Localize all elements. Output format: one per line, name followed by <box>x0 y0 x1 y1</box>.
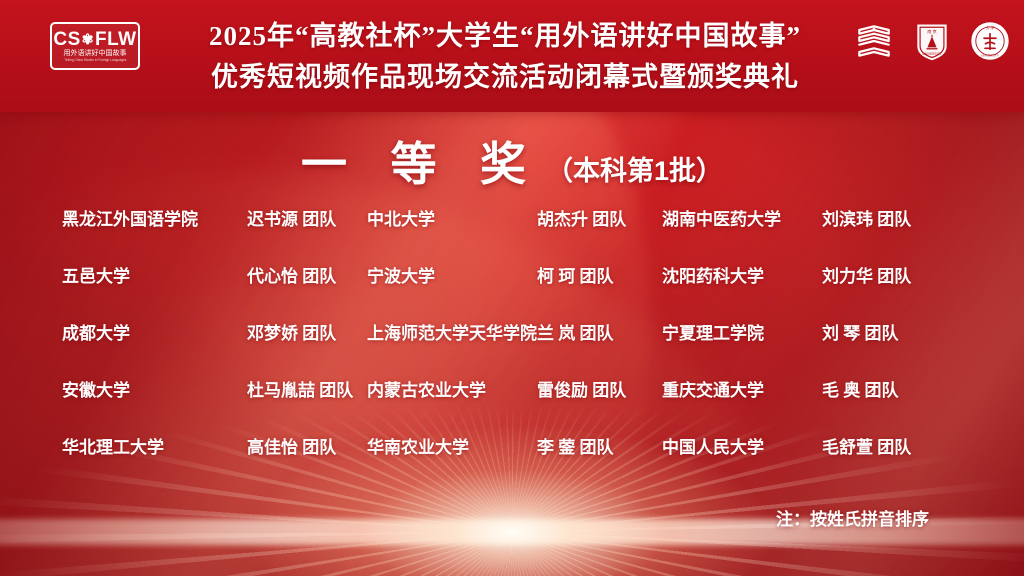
logo-text-prefix: CS <box>53 30 80 49</box>
event-title-line-2: 优秀短视频作品现场交流活动闭幕式暨颁奖典礼 <box>150 57 860 98</box>
table-row: 五邑大学 代心怡 团队 宁波大学 柯 珂 团队 沈阳药科大学 刘力华 团队 <box>62 262 962 319</box>
event-title: 2025年“高教社杯”大学生“用外语讲好中国故事” 优秀短视频作品现场交流活动闭… <box>150 16 860 98</box>
winner-team: 柯 珂 团队 <box>537 262 614 287</box>
winner-school: 湖南中医药大学 <box>662 205 781 230</box>
logo-subtitle-cn: 用外语讲好中国故事 <box>64 50 127 58</box>
slide-canvas: CS ✾ FLW 用外语讲好中国故事 Telling China Stories… <box>0 0 1024 576</box>
winner-team: 兰 岚 团队 <box>537 319 614 344</box>
svg-text:南 京: 南 京 <box>927 28 936 35</box>
winner-team: 刘滨玮 团队 <box>822 205 911 230</box>
event-title-line-1: 2025年“高教社杯”大学生“用外语讲好中国故事” <box>150 16 860 57</box>
winner-school: 沈阳药科大学 <box>662 262 764 287</box>
svg-text:UNIVERSITY: UNIVERSITY <box>981 54 999 58</box>
winner-school: 华南农业大学 <box>367 433 469 458</box>
winner-team: 迟书源 团队 <box>247 205 336 230</box>
logo-subtitle-en: Telling China Stories in Foreign Languag… <box>64 58 126 63</box>
winner-team: 毛 奥 团队 <box>822 376 899 401</box>
circular-seal-emblem-icon: 大 学 UNIVERSITY <box>968 18 1012 64</box>
winner-school: 内蒙古农业大学 <box>367 376 486 401</box>
winner-school: 重庆交通大学 <box>662 376 764 401</box>
emblem-group: 南 京 UNIVERSITY 大 学 <box>852 18 1012 64</box>
winner-team: 毛舒萱 团队 <box>822 433 911 458</box>
winner-team: 高佳怡 团队 <box>247 433 336 458</box>
svg-text:大 学: 大 学 <box>986 25 995 30</box>
shield-crest-emblem-icon: 南 京 UNIVERSITY <box>910 18 954 64</box>
award-subtitle: （本科第1批） <box>546 156 723 186</box>
winner-school: 宁波大学 <box>367 262 435 287</box>
logo-wordmark: CS ✾ FLW <box>53 30 136 49</box>
winners-grid: 黑龙江外国语学院 迟书源 团队 中北大学 胡杰升 团队 湖南中医药大学 刘滨玮 … <box>62 205 962 490</box>
winner-school: 五邑大学 <box>62 262 130 287</box>
winner-team: 代心怡 团队 <box>247 262 336 287</box>
winner-school: 华北理工大学 <box>62 433 164 458</box>
table-row: 安徽大学 杜马胤喆 团队 内蒙古农业大学 雷俊励 团队 重庆交通大学 毛 奥 团… <box>62 376 962 433</box>
winner-team: 邓梦娇 团队 <box>247 319 336 344</box>
award-title: 一 等 奖 <box>301 139 542 190</box>
header-band: CS ✾ FLW 用外语讲好中国故事 Telling China Stories… <box>0 0 1024 112</box>
table-row: 华北理工大学 高佳怡 团队 华南农业大学 李 蓥 团队 中国人民大学 毛舒萱 团… <box>62 433 962 490</box>
winner-school: 中国人民大学 <box>662 433 764 458</box>
award-heading: 一 等 奖（本科第1批） <box>0 128 1024 194</box>
winner-team: 刘 琴 团队 <box>822 319 899 344</box>
winner-school: 成都大学 <box>62 319 130 344</box>
cs-flw-logo: CS ✾ FLW 用外语讲好中国故事 Telling China Stories… <box>50 22 140 70</box>
winner-school: 宁夏理工学院 <box>662 319 764 344</box>
table-row: 成都大学 邓梦娇 团队 上海师范大学天华学院 兰 岚 团队 宁夏理工学院 刘 琴… <box>62 319 962 376</box>
winner-team: 刘力华 团队 <box>822 262 911 287</box>
winner-team: 李 蓥 团队 <box>537 433 614 458</box>
sorting-note: 注：按姓氏拼音排序 <box>776 505 929 530</box>
winner-school: 黑龙江外国语学院 <box>62 205 198 230</box>
table-row: 黑龙江外国语学院 迟书源 团队 中北大学 胡杰升 团队 湖南中医药大学 刘滨玮 … <box>62 205 962 262</box>
flower-icon: ✾ <box>82 32 94 46</box>
logo-text-suffix: FLW <box>95 30 137 49</box>
wave-book-emblem-icon <box>852 18 896 64</box>
winner-school: 中北大学 <box>367 205 435 230</box>
winner-team: 胡杰升 团队 <box>537 205 626 230</box>
winner-school: 上海师范大学天华学院 <box>367 319 537 344</box>
winner-team: 雷俊励 团队 <box>537 376 626 401</box>
svg-text:UNIVERSITY: UNIVERSITY <box>922 52 942 56</box>
winner-team: 杜马胤喆 团队 <box>247 376 353 401</box>
winner-school: 安徽大学 <box>62 376 130 401</box>
